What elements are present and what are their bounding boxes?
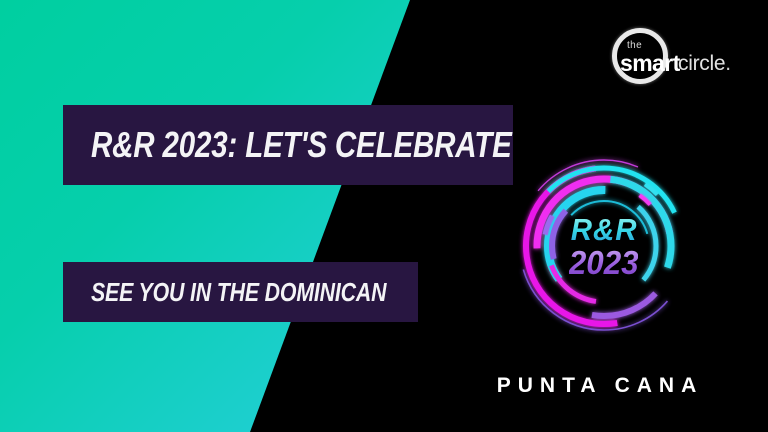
rr-2023-badge: R&R 2023 xyxy=(500,142,708,350)
presentation-slide: the smart circle. R&R 2023: LET'S CELEBR… xyxy=(0,0,768,432)
logo-trademark-dot: . xyxy=(725,52,731,75)
headline-subtitle-bar: SEE YOU IN THE DOMINICAN xyxy=(63,262,418,322)
badge-year-2023: 2023 xyxy=(569,246,639,279)
badge-title-rr: R&R xyxy=(571,214,638,245)
logo-circle-text: circle xyxy=(678,52,725,75)
headline-title-text: R&R 2023: LET'S CELEBRATE xyxy=(91,127,512,163)
logo-word-smart: smart xyxy=(620,50,680,77)
location-label: PUNTA CANA xyxy=(470,374,730,398)
headline-title-bar: R&R 2023: LET'S CELEBRATE xyxy=(63,105,513,185)
badge-center-text: R&R 2023 xyxy=(500,142,708,350)
headline-subtitle-text: SEE YOU IN THE DOMINICAN xyxy=(91,279,386,305)
smart-circle-logo: the smart circle. xyxy=(604,26,750,86)
logo-word-circle: circle. xyxy=(678,52,731,76)
